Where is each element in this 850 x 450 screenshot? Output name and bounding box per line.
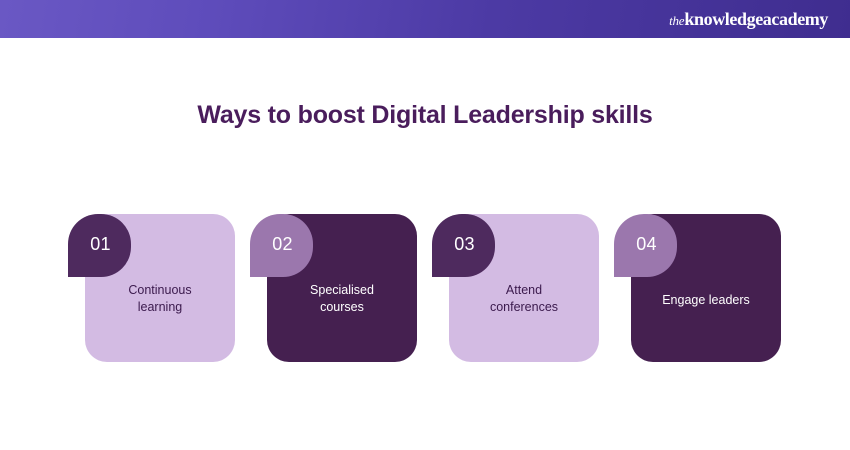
header-bar: theknowledgeacademy (0, 0, 850, 38)
number-badge: 04 (614, 214, 677, 277)
cards-row: 01 Continuous learning 02 Specialised co… (68, 196, 782, 366)
number-badge-label: 03 (454, 234, 475, 255)
page-title: Ways to boost Digital Leadership skills (0, 101, 850, 130)
card-item-01: 01 Continuous learning (85, 214, 235, 362)
brand-logo-prefix: the (669, 13, 684, 28)
card-label: Continuous learning (93, 282, 227, 316)
card-item-02: 02 Specialised courses (267, 214, 417, 362)
number-badge: 01 (68, 214, 131, 277)
card-item-04: 04 Engage leaders (631, 214, 781, 362)
card-item-03: 03 Attend conferences (449, 214, 599, 362)
card-label: Engage leaders (639, 292, 773, 309)
number-badge: 03 (432, 214, 495, 277)
number-badge-label: 04 (636, 234, 657, 255)
brand-logo-name: knowledgeacademy (684, 9, 828, 29)
number-badge-label: 02 (272, 234, 293, 255)
number-badge-label: 01 (90, 234, 111, 255)
brand-logo: theknowledgeacademy (669, 10, 828, 29)
card-label: Specialised courses (275, 282, 409, 316)
card-label: Attend conferences (457, 282, 591, 316)
number-badge: 02 (250, 214, 313, 277)
